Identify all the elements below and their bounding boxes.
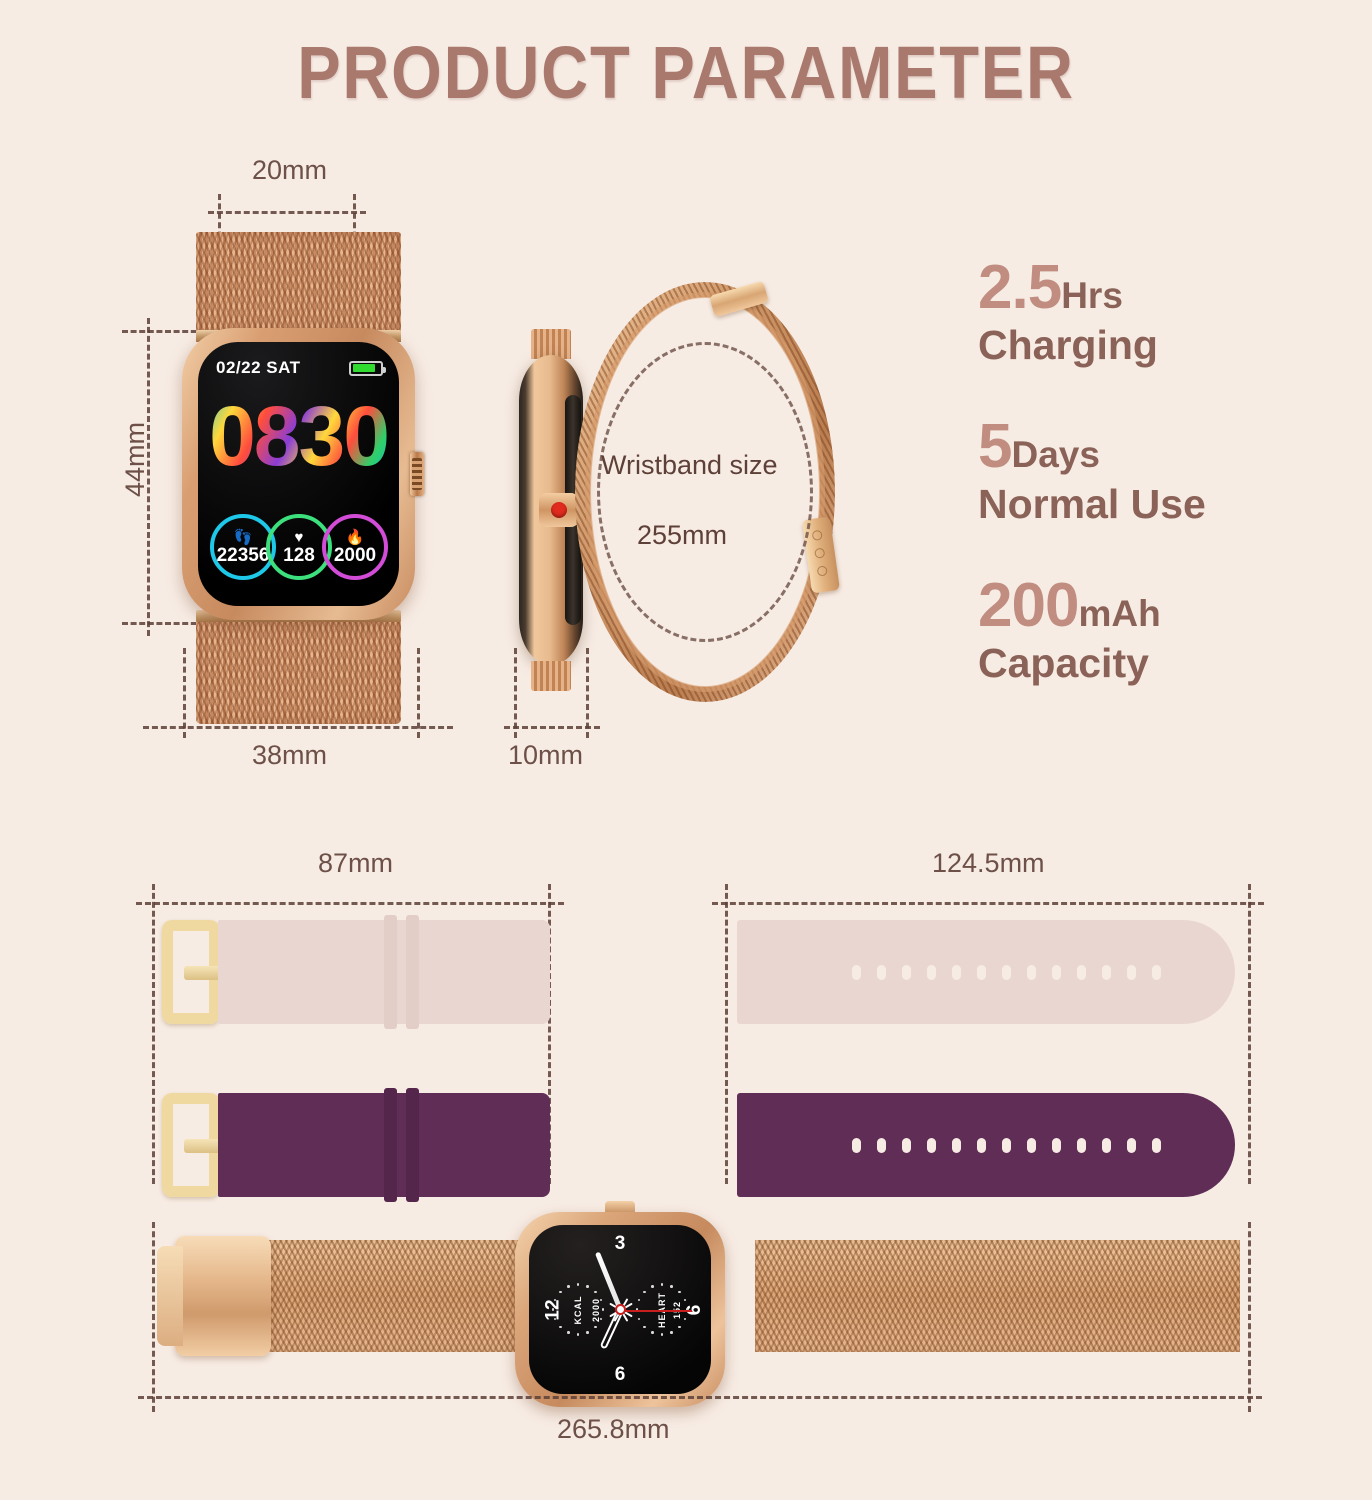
subdial-dot (577, 1283, 580, 1286)
guide-right-1245 (1248, 884, 1251, 1184)
subdial-dot (670, 1331, 673, 1334)
spec-charging-label: Charging (978, 325, 1308, 365)
bottom-watch-screen[interactable]: 12 3 6 9 KCAL 2000 HEART 152 (529, 1225, 711, 1394)
strap-hole (1127, 1138, 1136, 1153)
subdial-dot (638, 1318, 641, 1321)
subdial-dot (643, 1291, 646, 1294)
spec-capacity-value: 200 (978, 571, 1078, 640)
ring-calories-value: 2000 (334, 546, 376, 565)
strap-hole (1102, 965, 1111, 980)
spec-days-label: Normal Use (978, 484, 1308, 524)
strap-hole (927, 1138, 936, 1153)
ring-calories: 🔥 2000 (322, 514, 388, 580)
wristband-size-value: 255mm (637, 520, 727, 551)
strap-hole (1052, 965, 1061, 980)
wristband-size-guide (597, 342, 813, 642)
strap-hole (877, 1138, 886, 1153)
keeper-purple-1 (384, 1088, 397, 1202)
dial-numeral-6: 6 (615, 1364, 626, 1386)
subdial-dot (643, 1326, 646, 1329)
strap-hole (977, 1138, 986, 1153)
dim-line-case-width (143, 726, 453, 729)
footsteps-icon: 👣 (234, 530, 253, 545)
strap-pink-hole-half (737, 920, 1235, 1024)
strap-hole (1002, 1138, 1011, 1153)
strap-hole (877, 965, 886, 980)
spec-list: 2.5Hrs Charging 5Days Normal Use 200mAh … (978, 258, 1308, 735)
dial-pivot (615, 1304, 626, 1315)
dim-line-strap-length (712, 902, 1264, 905)
subdial-dot (559, 1291, 562, 1294)
mesh-magnetic-clasp[interactable] (175, 1236, 271, 1356)
dim-label-case-width: 38mm (252, 740, 327, 771)
subdial-dot (594, 1326, 597, 1329)
screen-date: 02/22 SAT (216, 358, 301, 378)
dim-label-strap-length: 124.5mm (932, 848, 1045, 879)
smartwatch-front-view: 02/22 SAT 0830 👣 22356 ♥ 128 🔥 200 (196, 232, 401, 724)
strap-hole (952, 965, 961, 980)
strap-hole (1052, 1138, 1061, 1153)
battery-icon (349, 361, 383, 376)
strap-hole (977, 965, 986, 980)
strap-holes-purple (852, 1093, 1161, 1197)
spec-capacity-unit: mAh (1078, 593, 1160, 634)
spec-days-unit: Days (1011, 434, 1099, 475)
spec-charging-value: 2.5 (978, 253, 1061, 322)
dim-guide-width-right (417, 648, 420, 738)
bottom-watch-case: 12 3 6 9 KCAL 2000 HEART 152 (515, 1212, 725, 1407)
dim-line-case-height (147, 318, 150, 636)
subdial-dot (651, 1285, 654, 1288)
strap-hole (927, 965, 936, 980)
subdial-dot (651, 1331, 654, 1334)
spec-capacity-label: Capacity (978, 643, 1308, 683)
keeper-pink-2 (406, 915, 419, 1029)
page-title: PRODUCT PARAMETER (82, 30, 1289, 115)
strap-hole (1077, 1138, 1086, 1153)
spec-charging-unit: Hrs (1061, 275, 1123, 316)
subdial-dot (567, 1285, 570, 1288)
spec-battery-life: 5Days Normal Use (978, 417, 1308, 524)
strap-hole (1152, 965, 1161, 980)
mesh-band-top (196, 232, 401, 342)
subdial-dot (577, 1333, 580, 1336)
dim-label-thickness: 10mm (508, 740, 583, 771)
strap-hole (1027, 965, 1036, 980)
strap-hole (1102, 1138, 1111, 1153)
guide-left-87 (152, 884, 155, 1184)
spec-battery-capacity: 200mAh Capacity (978, 576, 1308, 683)
mesh-strip-right (755, 1240, 1240, 1352)
dim-guide-width-left (183, 648, 186, 738)
strap-hole (902, 965, 911, 980)
dial-numeral-3: 3 (615, 1233, 626, 1255)
second-hand (620, 1310, 692, 1312)
side-crown-button[interactable] (539, 493, 579, 527)
strap-holes-pink (852, 920, 1161, 1024)
mesh-clasp-tab (157, 1246, 183, 1346)
strap-hole (1027, 1138, 1036, 1153)
dim-line-thickness (504, 726, 600, 729)
strap-hole (1002, 965, 1011, 980)
strap-hole (1077, 965, 1086, 980)
dim-line-buckle-length (136, 902, 564, 905)
product-parameter-infographic: PRODUCT PARAMETER 20mm 44mm 38mm 10mm 02… (0, 0, 1372, 1500)
subdial-dot (567, 1331, 570, 1334)
strap-hole (1127, 965, 1136, 980)
side-mesh-bottom (531, 661, 571, 691)
watch-screen[interactable]: 02/22 SAT 0830 👣 22356 ♥ 128 🔥 200 (198, 342, 399, 606)
flame-icon: 🔥 (346, 530, 365, 545)
subdial-dot (552, 1308, 555, 1311)
strap-hole (902, 1138, 911, 1153)
subdial-calories-label: KCAL (573, 1295, 583, 1324)
dim-label-total-length: 265.8mm (557, 1414, 670, 1445)
subdial-dot (586, 1285, 589, 1288)
strap-purple-hole-half (737, 1093, 1235, 1197)
subdial-dot (684, 1299, 687, 1302)
ring-heart-value: 128 (283, 546, 315, 565)
watch-case: 02/22 SAT 0830 👣 22356 ♥ 128 🔥 200 (182, 328, 415, 620)
subdial-dot (678, 1291, 681, 1294)
subdial-dot (678, 1326, 681, 1329)
subdial-dot (670, 1285, 673, 1288)
smartwatch-bottom-view: 12 3 6 9 KCAL 2000 HEART 152 (515, 1212, 725, 1407)
dim-line-band-width (208, 211, 366, 214)
dim-label-band-width: 20mm (252, 155, 327, 186)
activity-rings: 👣 22356 ♥ 128 🔥 2000 (198, 510, 399, 588)
keeper-pink-1 (384, 915, 397, 1029)
strap-hole (952, 1138, 961, 1153)
guide-left-total (152, 1222, 155, 1412)
subdial-dot (554, 1299, 557, 1302)
spec-charging-time: 2.5Hrs Charging (978, 258, 1308, 365)
subdial-dot (554, 1318, 557, 1321)
subdial-dot (661, 1283, 664, 1286)
strap-hole (852, 965, 861, 980)
subdial-dot (559, 1326, 562, 1329)
subdial-dot (684, 1318, 687, 1321)
ring-steps-value: 22356 (217, 546, 270, 565)
guide-right-total (1248, 1222, 1251, 1412)
keeper-purple-2 (406, 1088, 419, 1202)
subdial-dot (602, 1308, 605, 1311)
subdial-dot (661, 1333, 664, 1336)
screen-time: 0830 (198, 388, 399, 485)
dim-label-buckle-length: 87mm (318, 848, 393, 879)
wristband-size-label: Wristband size (601, 450, 778, 481)
strap-hole (1152, 1138, 1161, 1153)
mesh-band-bottom (196, 612, 401, 724)
crown-button[interactable] (410, 452, 424, 496)
side-watch-case (519, 355, 583, 665)
spec-days-value: 5 (978, 412, 1011, 481)
subdial-calories: KCAL 2000 (551, 1283, 605, 1337)
heart-icon: ♥ (295, 530, 304, 545)
screen-status-bar: 02/22 SAT (216, 358, 383, 378)
subdial-calories-value: 2000 (591, 1297, 601, 1321)
subdial-dot (586, 1331, 589, 1334)
subdial-dot (594, 1291, 597, 1294)
dim-line-total-length (138, 1396, 1262, 1399)
subdial-dot (638, 1299, 641, 1302)
guide-left-1245 (725, 884, 728, 1184)
strap-hole (852, 1138, 861, 1153)
